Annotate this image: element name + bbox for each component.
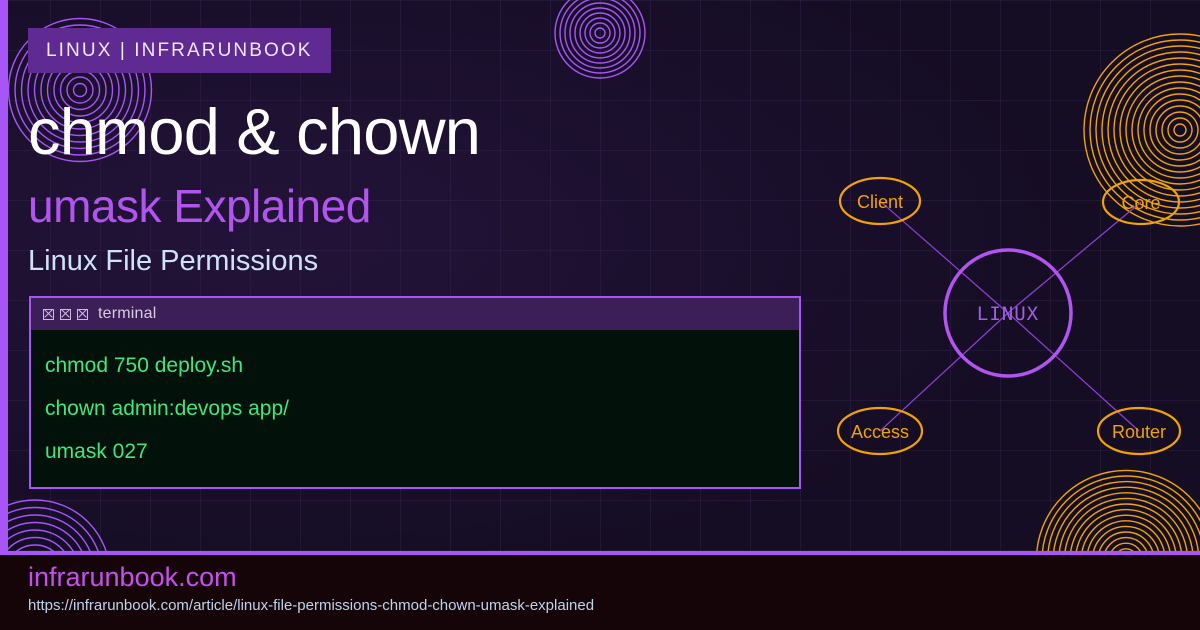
node-label-access: Access [851,422,909,442]
social-card: LINUX | INFRARUNBOOK chmod & chown umask… [0,0,1200,630]
diagram-node-access[interactable]: Access [838,408,922,454]
kicker-label: LINUX | INFRARUNBOOK [46,40,313,62]
page-title: chmod & chown [28,97,480,167]
terminal-command-line: chown admin:devops app/ [45,391,785,434]
node-label-router: Router [1112,422,1166,442]
network-diagram-svg: LINUX Client Core Access Router [800,150,1200,480]
node-label-core: Core [1121,193,1160,213]
network-diagram: LINUX Client Core Access Router [800,150,1200,480]
terminal-window: terminal chmod 750 deploy.sh chown admin… [29,296,801,489]
window-dot-close-icon[interactable] [43,309,54,320]
terminal-command-line: chmod 750 deploy.sh [45,348,785,391]
page-tagline: Linux File Permissions [28,244,318,278]
window-dot-minimize-icon[interactable] [60,309,71,320]
left-accent-bar [0,0,8,551]
kicker-badge: LINUX | INFRARUNBOOK [28,28,331,73]
terminal-command-line: umask 027 [45,434,785,467]
diagram-node-router[interactable]: Router [1098,408,1180,454]
hub-label: LINUX [977,303,1039,325]
footer: infrarunbook.com https://infrarunbook.co… [0,555,1200,630]
page-subtitle: umask Explained [28,180,371,232]
edge-core-linux [1008,202,1141,313]
terminal-window-controls[interactable] [43,309,88,320]
diagram-hub[interactable]: LINUX [945,250,1071,376]
edge-client-linux [880,201,1008,313]
node-label-client: Client [857,192,903,212]
diagram-node-client[interactable]: Client [840,178,920,224]
terminal-title-label: terminal [98,305,157,323]
diagram-node-core[interactable]: Core [1103,180,1179,224]
footer-domain[interactable]: infrarunbook.com [28,562,237,593]
footer-url[interactable]: https://infrarunbook.com/article/linux-f… [28,597,594,615]
terminal-titlebar: terminal [31,298,799,330]
window-dot-maximize-icon[interactable] [77,309,88,320]
terminal-body: chmod 750 deploy.sh chown admin:devops a… [31,330,799,487]
